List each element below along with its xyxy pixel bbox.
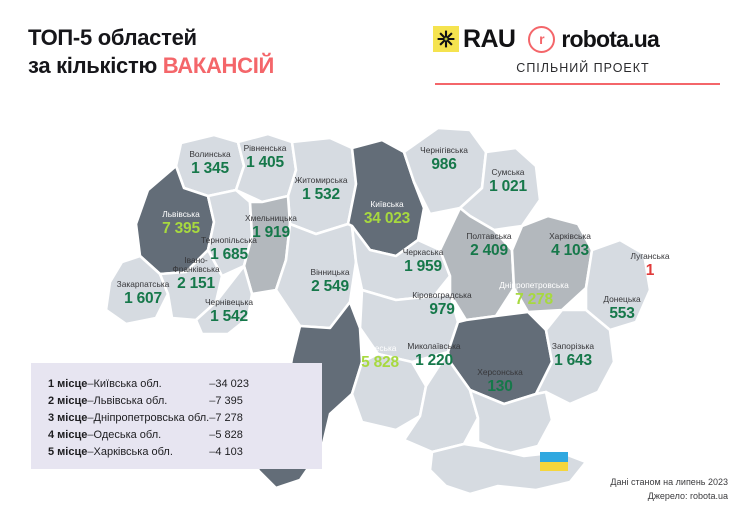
rank-place: 2 місце (48, 392, 87, 409)
table-row: 3 місце – Дніпропетровська обл. – 7 278 (48, 409, 249, 426)
rank-value: 5 828 (215, 427, 249, 444)
accent-divider (435, 83, 720, 85)
footer-date: Дані станом на липень 2023 (610, 476, 728, 490)
title-line-1: ТОП-5 областей (28, 24, 408, 52)
rank-value: 4 103 (215, 444, 249, 461)
infographic-canvas: ТОП-5 областей за кількістю ВАКАНСІЙ (0, 0, 750, 530)
rank-region: Одеська обл. (94, 427, 210, 444)
logo-row: RAU r robota.ua (425, 22, 725, 56)
robota-mark-letter: r (539, 32, 544, 46)
region-shape-mykolaiv (352, 354, 426, 430)
title-accent-word: ВАКАНСІЙ (163, 53, 274, 78)
table-row: 2 місце – Львівська обл. – 7 395 (48, 392, 249, 409)
rank-region: Київська обл. (94, 375, 210, 392)
table-row: 1 місце – Київська обл. – 34 023 (48, 375, 249, 392)
region-shape-kharkiv (512, 216, 592, 312)
page-title: ТОП-5 областей за кількістю ВАКАНСІЙ (28, 24, 408, 79)
ranking-table: 1 місце – Київська обл. – 34 023 2 місце… (48, 375, 249, 461)
robota-wordmark: robota.ua (561, 26, 659, 53)
footer-note: Дані станом на липень 2023 Джерело: robo… (610, 476, 728, 503)
ukraine-flag-icon (540, 452, 568, 471)
footer-source: Джерело: robota.ua (610, 490, 728, 504)
brand-block: RAU r robota.ua СПІЛЬНИЙ ПРОЕКТ (425, 22, 725, 85)
rank-place: 1 місце (48, 375, 87, 392)
region-shape-rivne (236, 134, 296, 202)
rank-region: Дніпропетровська обл. (94, 409, 210, 426)
flag-yellow-stripe (540, 462, 568, 472)
rank-place: 4 місце (48, 427, 87, 444)
rank-region: Львівська обл. (94, 392, 210, 409)
rank-value: 7 395 (215, 392, 249, 409)
flag-blue-stripe (540, 452, 568, 462)
robota-logo[interactable]: r robota.ua (528, 26, 659, 53)
table-row: 4 місце – Одеська обл. – 5 828 (48, 427, 249, 444)
rank-place: 5 місце (48, 444, 87, 461)
region-shape-kirovohrad (360, 290, 458, 362)
rank-place: 3 місце (48, 409, 87, 426)
region-shape-volyn (176, 135, 244, 196)
table-row: 5 місце – Харківська обл. – 4 103 (48, 444, 249, 461)
title-line-2-prefix: за кількістю (28, 53, 163, 78)
rank-region: Харківська обл. (94, 444, 210, 461)
star-asterisk-icon (433, 26, 459, 52)
robota-circle-r-icon: r (528, 26, 555, 53)
title-line-2: за кількістю ВАКАНСІЙ (28, 52, 408, 80)
rau-logo[interactable]: RAU (433, 25, 515, 54)
rau-wordmark: RAU (463, 25, 515, 54)
rank-value: 7 278 (215, 409, 249, 426)
region-shape-zhytomyr (288, 138, 356, 234)
joint-project-label: СПІЛЬНИЙ ПРОЕКТ (425, 61, 725, 75)
rank-value: 34 023 (215, 375, 249, 392)
ranking-legend: 1 місце – Київська обл. – 34 023 2 місце… (31, 363, 322, 469)
